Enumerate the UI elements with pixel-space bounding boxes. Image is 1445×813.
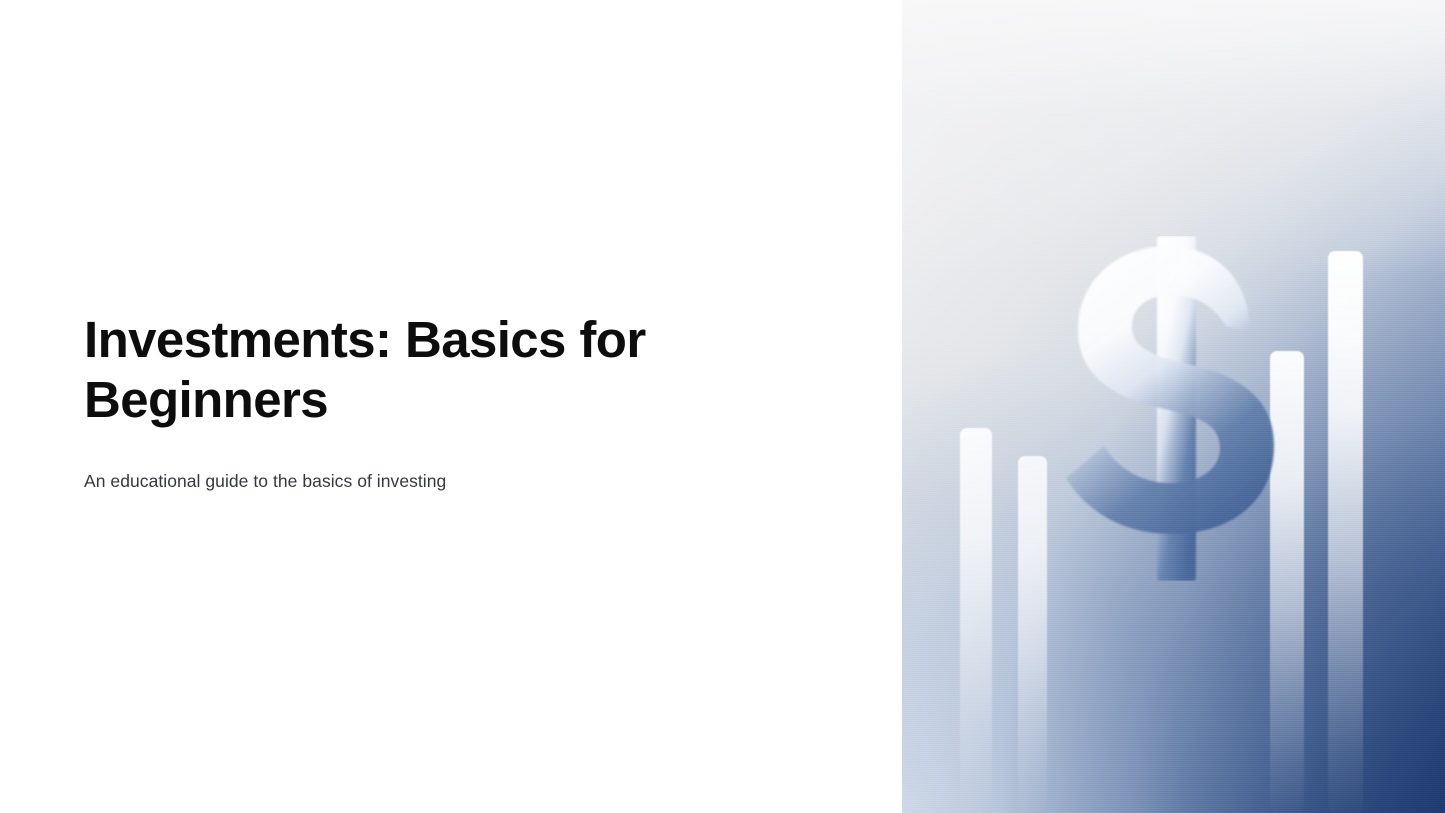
dollar-sign-icon [1060,236,1292,581]
chart-bar-1 [960,428,992,813]
chart-bar-4 [1328,251,1363,813]
title-block: Investments: Basics for Beginners [84,310,704,430]
title-slide: Investments: Basics for Beginners An edu… [0,0,1445,813]
decorative-image-pane [902,0,1445,813]
page-title: Investments: Basics for Beginners [84,310,704,430]
bar-chart-artwork [902,0,1445,813]
chart-bar-2 [1018,456,1047,813]
page-subtitle: An educational guide to the basics of in… [84,469,446,493]
slide-text-pane: Investments: Basics for Beginners An edu… [0,0,902,813]
